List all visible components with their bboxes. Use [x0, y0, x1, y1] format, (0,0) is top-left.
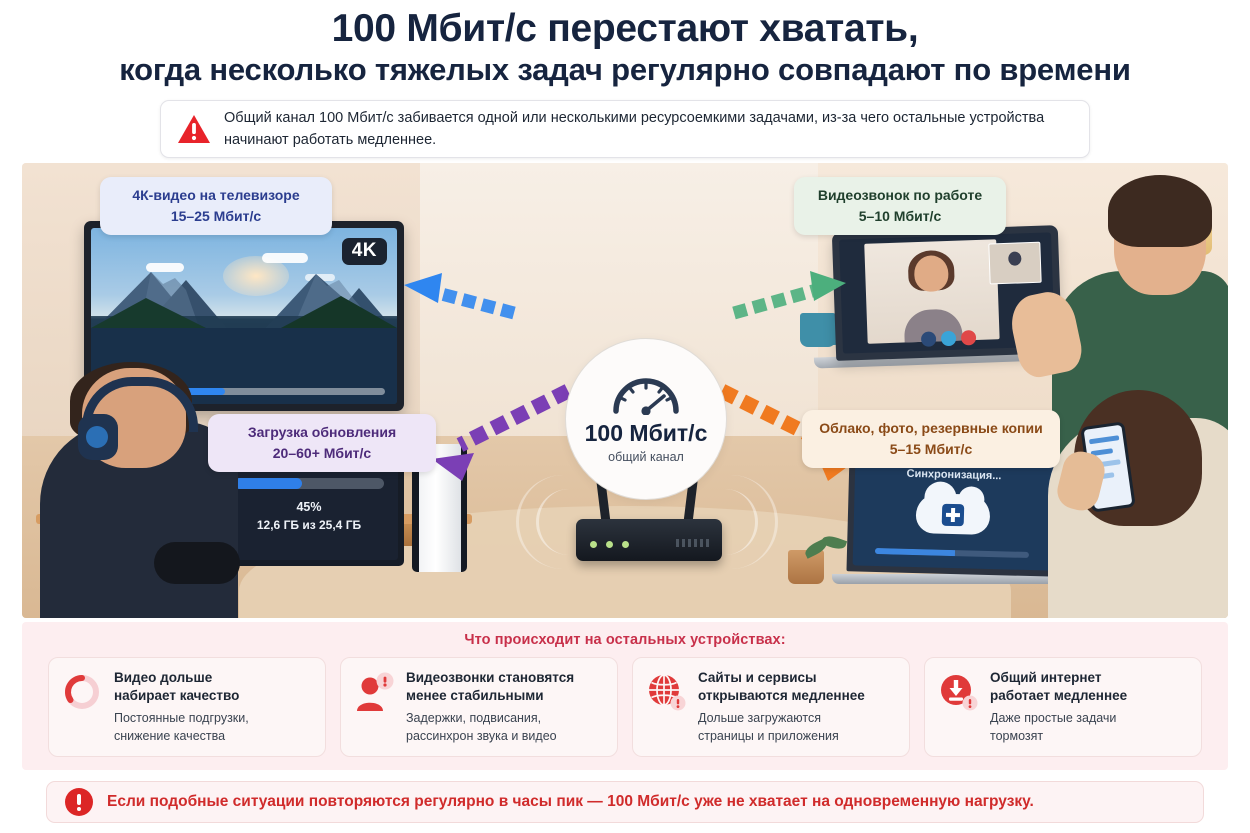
download-progress-fill — [234, 478, 302, 489]
callout-cloud-rate: 5–15 Мбит/с — [818, 440, 1044, 459]
alert-circle-icon — [65, 788, 93, 816]
consequence-card: Видео дольше набирает качество Постоянны… — [48, 657, 326, 757]
router-vent — [676, 539, 710, 547]
speedometer-icon — [609, 375, 683, 415]
callout-tv-title: 4К-видео на телевизоре — [116, 186, 316, 205]
callout-videocall-title: Видеозвонок по работе — [810, 186, 990, 205]
buffering-spinner-icon — [61, 671, 103, 713]
consequence-body-l1: Даже простые задачи — [990, 711, 1116, 725]
consequence-card-text: Сайты и сервисы открываются медленнее До… — [698, 669, 865, 745]
consequence-card-text: Общий интернет работает медленнее Даже п… — [990, 669, 1127, 745]
videocall-self-view — [988, 242, 1042, 285]
consequence-body-l2: рассинхрон звука и видео — [406, 729, 557, 743]
consequence-card-text: Видео дольше набирает качество Постоянны… — [114, 669, 249, 745]
page-title-line2: когда несколько тяжелых задач регулярно … — [20, 52, 1230, 89]
callout-videocall: Видеозвонок по работе 5–10 Мбит/с — [794, 177, 1006, 235]
consequence-heading-l2: открываются медленнее — [698, 688, 865, 703]
gamepad-icon — [154, 542, 240, 584]
sync-laptop: Синхронизация... — [846, 451, 1059, 576]
bandwidth-hub: 100 Мбит/с общий канал — [565, 338, 727, 500]
consequence-body-l2: снижение качества — [114, 729, 225, 743]
callout-update-rate: 20–60+ Мбит/с — [224, 444, 420, 463]
callout-update: Загрузка обновления 20–60+ Мбит/с — [208, 414, 436, 472]
hub-speed: 100 Мбит/с — [585, 422, 708, 445]
consequence-card: Видеозвонки становятся менее стабильными… — [340, 657, 618, 757]
callout-cloud: Облако, фото, резервные копии 5–15 Мбит/… — [802, 410, 1060, 468]
consequence-body: Задержки, подвисания, рассинхрон звука и… — [406, 710, 574, 745]
consequence-heading-l1: Видеозвонки становятся — [406, 670, 574, 685]
header: 100 Мбит/с перестают хватать, когда неск… — [0, 0, 1250, 89]
download-progress-bar — [234, 478, 384, 489]
download-percent: 45% — [220, 500, 398, 514]
router-led — [622, 541, 629, 548]
consequence-body-l2: тормозят — [990, 729, 1043, 743]
consequence-body: Даже простые задачи тормозят — [990, 710, 1127, 745]
download-alert-icon — [937, 671, 979, 713]
router-led — [606, 541, 613, 548]
videocall-camera-icon[interactable] — [941, 331, 957, 347]
consequences-section: Что происходит на остальных устройствах:… — [22, 622, 1228, 770]
warning-banner: Общий канал 100 Мбит/с забивается одной … — [160, 100, 1090, 158]
footer-conclusion: Если подобные ситуации повторяются регул… — [46, 781, 1204, 823]
headphone-earcup — [78, 414, 118, 460]
consequence-heading-l2: набирает качество — [114, 688, 239, 703]
callout-videocall-rate: 5–10 Мбит/с — [810, 207, 990, 226]
videocall-hangup-icon[interactable] — [961, 330, 977, 346]
warning-banner-text: Общий канал 100 Мбит/с забивается одной … — [224, 107, 1073, 152]
download-size: 12,6 ГБ из 25,4 ГБ — [220, 518, 398, 532]
sync-progress-fill — [875, 548, 955, 556]
cloud-plus-icon — [942, 504, 965, 527]
router-led — [590, 541, 597, 548]
videocall-info-icon[interactable] — [921, 331, 937, 347]
consequence-heading-l2: менее стабильными — [406, 688, 544, 703]
consequence-card-text: Видеозвонки становятся менее стабильными… — [406, 669, 574, 745]
sync-status-title: Синхронизация... — [855, 466, 1053, 483]
consequence-heading-l2: работает медленнее — [990, 688, 1127, 703]
videocall-participant — [865, 239, 1000, 344]
consequence-card: Сайты и сервисы открываются медленнее До… — [632, 657, 910, 757]
hub-caption: общий канал — [608, 450, 684, 464]
person-videocall-hair — [1108, 175, 1212, 247]
footer-text: Если подобные ситуации повторяются регул… — [107, 793, 1034, 811]
consequence-body: Постоянные подгрузки, снижение качества — [114, 710, 249, 745]
consequence-heading-l1: Сайты и сервисы — [698, 670, 817, 685]
consequence-card: Общий интернет работает медленнее Даже п… — [924, 657, 1202, 757]
consequence-heading: Общий интернет работает медленнее — [990, 669, 1127, 704]
page-title-line1: 100 Мбит/с перестают хватать, — [20, 8, 1230, 50]
phone-content-line — [1089, 435, 1119, 444]
router-body — [576, 519, 722, 561]
consequence-body-l1: Дольше загружаются — [698, 711, 821, 725]
warning-triangle-icon — [177, 114, 211, 144]
callout-tv-rate: 15–25 Мбит/с — [116, 207, 316, 226]
globe-alert-icon — [645, 671, 687, 713]
consequence-heading: Сайты и сервисы открываются медленнее — [698, 669, 865, 704]
consequences-title: Что происходит на остальных устройствах: — [22, 622, 1228, 648]
sync-laptop-screen: Синхронизация... — [853, 457, 1054, 570]
videocall-controls[interactable] — [921, 330, 976, 347]
callout-tv: 4К-видео на телевизоре 15–25 Мбит/с — [100, 177, 332, 235]
badge-4k: 4K — [342, 238, 387, 265]
sync-progress-bar — [875, 548, 1029, 558]
consequence-body-l1: Задержки, подвисания, — [406, 711, 541, 725]
consequence-body-l2: страницы и приложения — [698, 729, 839, 743]
callout-cloud-title: Облако, фото, резервные копии — [818, 419, 1044, 438]
consequence-heading: Видео дольше набирает качество — [114, 669, 249, 704]
participant-head — [914, 255, 949, 292]
consequence-body-l1: Постоянные подгрузки, — [114, 711, 249, 725]
consequence-heading: Видеозвонки становятся менее стабильными — [406, 669, 574, 704]
infographic-page: 100 Мбит/с перестают хватать, когда неск… — [0, 0, 1250, 833]
self-view-head — [1008, 251, 1021, 265]
scene-illustration: 4K — [22, 163, 1228, 618]
consequence-heading-l1: Общий интернет — [990, 670, 1102, 685]
consequence-heading-l1: Видео дольше — [114, 670, 212, 685]
callout-update-title: Загрузка обновления — [224, 423, 420, 442]
consequence-body: Дольше загружаются страницы и приложения — [698, 710, 865, 745]
consequences-card-list: Видео дольше набирает качество Постоянны… — [22, 648, 1228, 757]
person-alert-icon — [353, 671, 395, 713]
